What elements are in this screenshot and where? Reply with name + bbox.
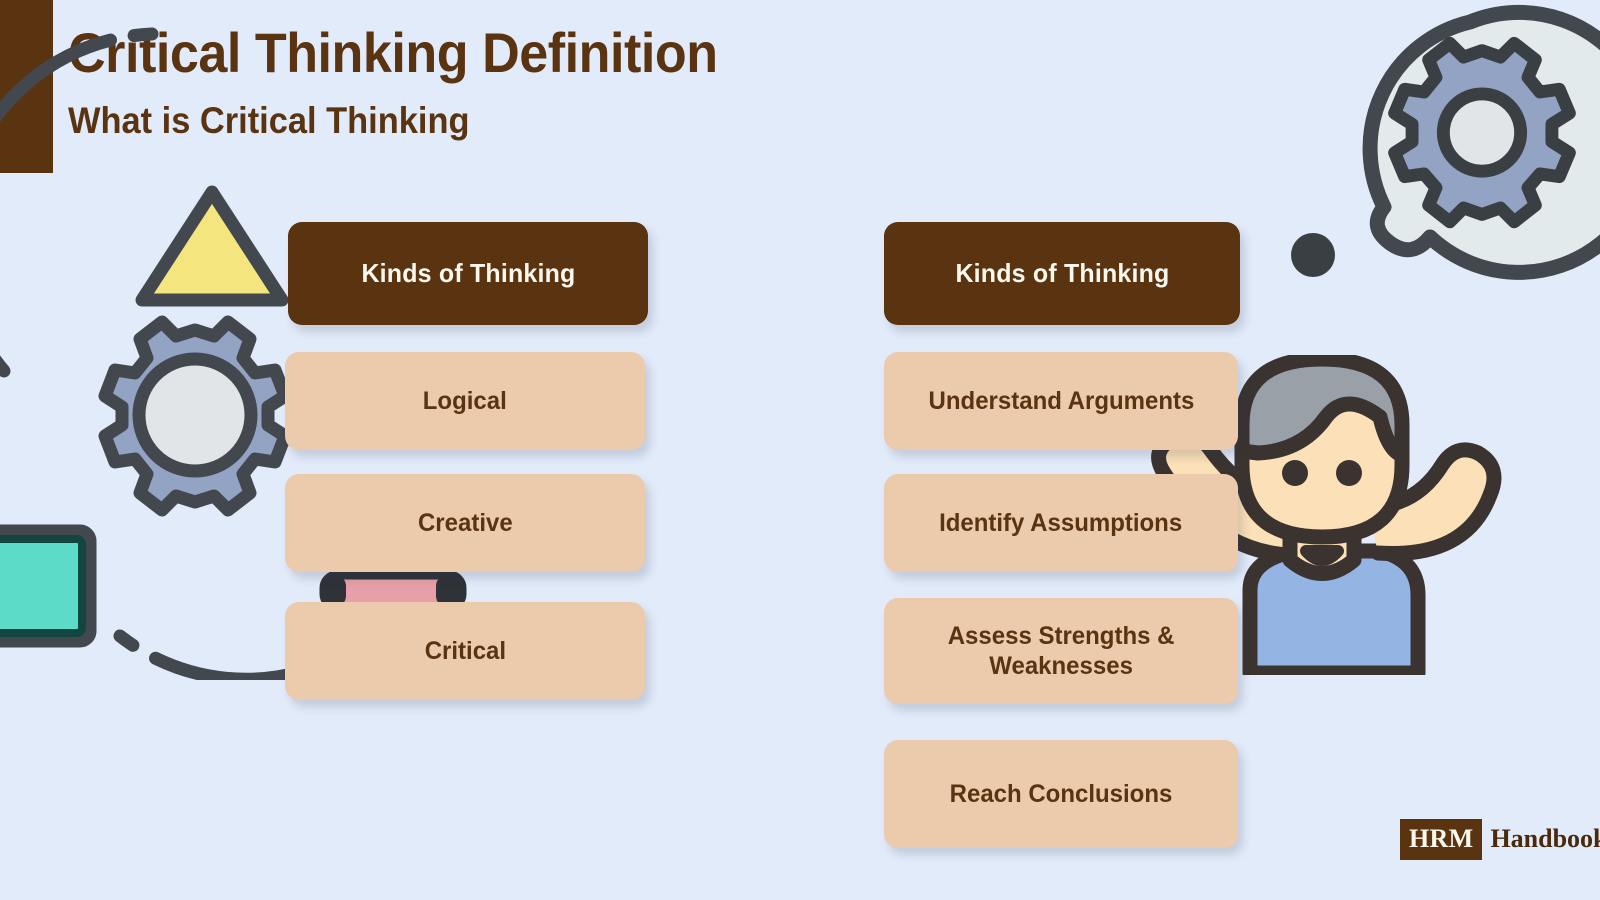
thought-bubble-icon bbox=[1370, 12, 1600, 272]
bubble-dot-icon bbox=[1291, 233, 1335, 277]
left-item-label-2: Creative bbox=[418, 508, 513, 538]
right-item-card-1[interactable]: Understand Arguments bbox=[884, 352, 1238, 450]
left-item-card-1[interactable]: Logical bbox=[285, 352, 645, 450]
square-icon bbox=[0, 531, 90, 641]
logo-wordmark: Handbook bbox=[1482, 819, 1600, 860]
right-illustration-group bbox=[1270, 0, 1600, 400]
right-column-header-card[interactable]: Kinds of Thinking bbox=[884, 222, 1240, 325]
infographic-canvas: Critical Thinking Definition What is Cri… bbox=[0, 0, 1600, 900]
right-item-label-1: Understand Arguments bbox=[928, 386, 1194, 416]
page-subtitle: What is Critical Thinking bbox=[68, 100, 469, 142]
left-item-card-3[interactable]: Critical bbox=[285, 602, 645, 700]
eye-icon bbox=[1336, 460, 1362, 486]
accent-bar bbox=[0, 0, 53, 173]
page-title: Critical Thinking Definition bbox=[68, 20, 718, 85]
gear-icon bbox=[1395, 43, 1570, 221]
left-item-card-2[interactable]: Creative bbox=[285, 474, 645, 572]
eye-icon bbox=[1282, 460, 1308, 486]
logo-mark: HRM bbox=[1400, 819, 1482, 860]
right-column-header-label: Kinds of Thinking bbox=[955, 258, 1169, 289]
left-column-header-card[interactable]: Kinds of Thinking bbox=[288, 222, 648, 325]
left-column-header-label: Kinds of Thinking bbox=[361, 258, 575, 289]
hrm-handbook-logo[interactable]: HRM Handbook bbox=[1400, 819, 1600, 860]
right-item-card-4[interactable]: Reach Conclusions bbox=[884, 740, 1238, 848]
gear-icon bbox=[105, 322, 285, 510]
left-item-label-3: Critical bbox=[424, 636, 505, 666]
right-item-card-3[interactable]: Assess Strengths & Weaknesses bbox=[884, 598, 1238, 704]
right-item-label-2: Identify Assumptions bbox=[939, 508, 1182, 538]
triangle-icon bbox=[142, 192, 282, 300]
left-item-label-1: Logical bbox=[423, 386, 507, 416]
right-item-label-3: Assess Strengths & Weaknesses bbox=[948, 621, 1175, 681]
right-item-card-2[interactable]: Identify Assumptions bbox=[884, 474, 1238, 572]
right-item-label-4: Reach Conclusions bbox=[950, 779, 1173, 809]
